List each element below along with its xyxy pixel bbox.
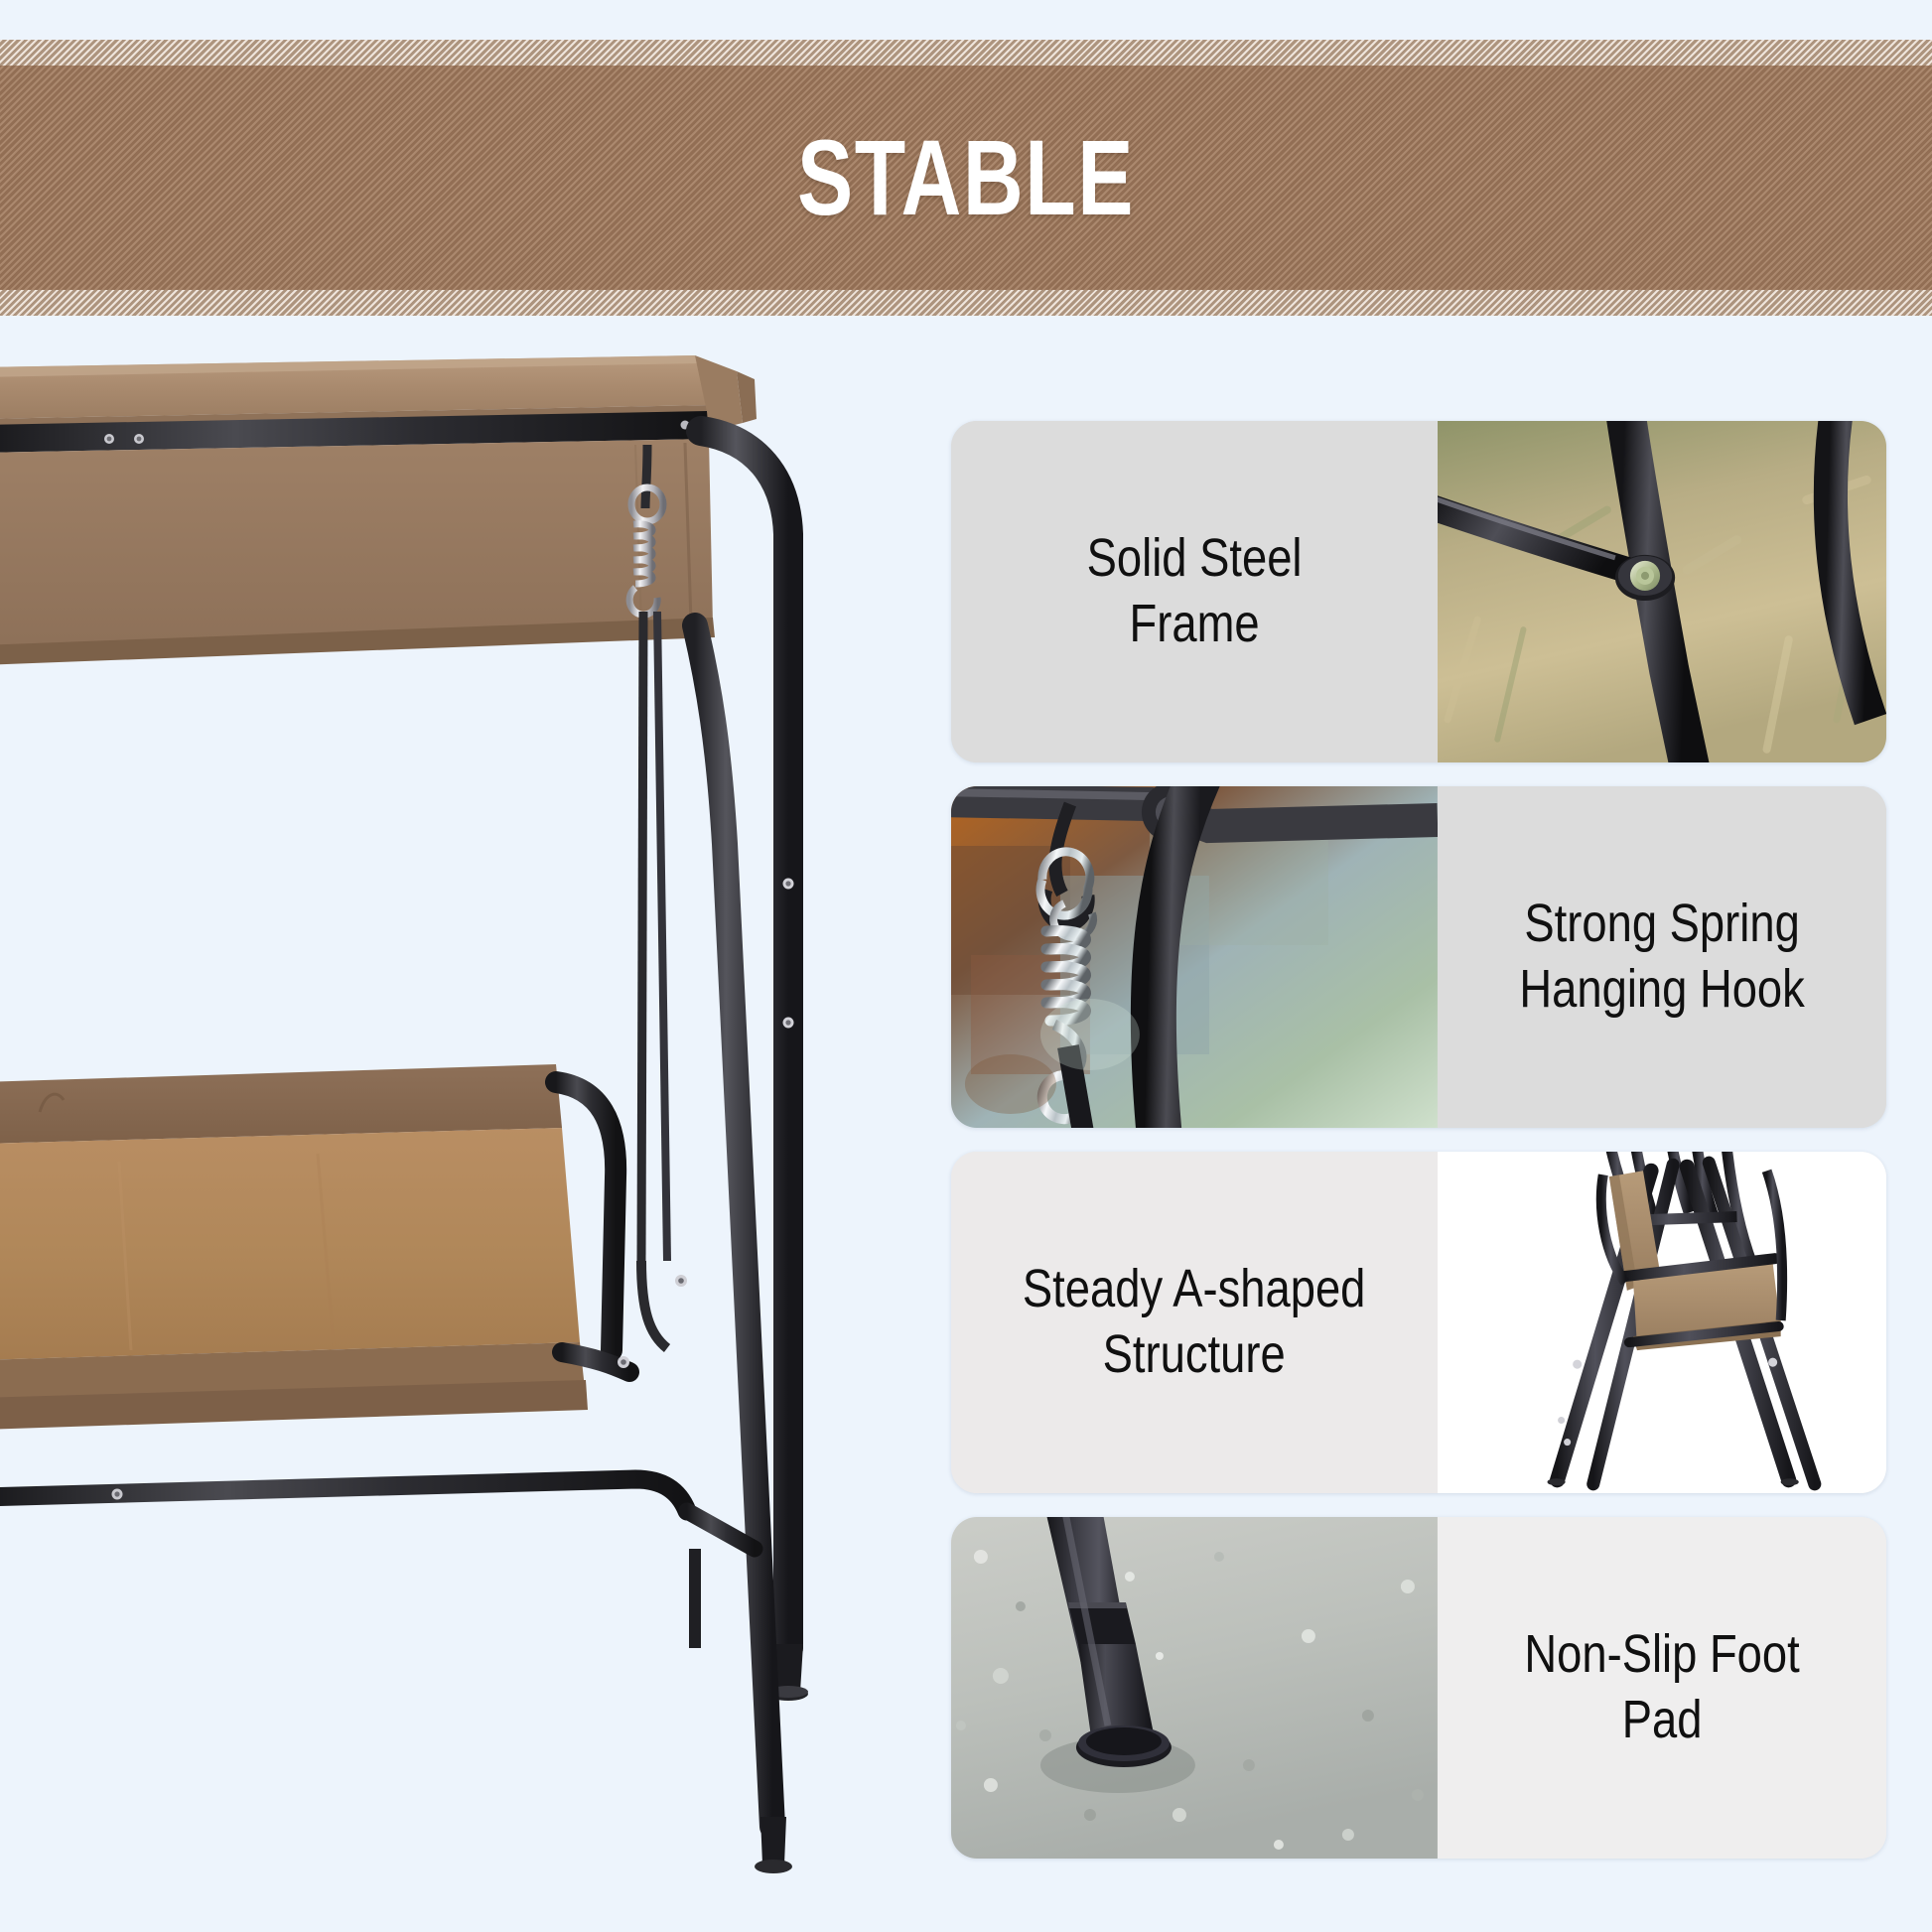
product-hero-image xyxy=(0,328,933,1932)
non-slip-foot-pad-on-gravel-photo xyxy=(951,1517,1438,1859)
page-title: STABLE xyxy=(797,124,1135,231)
feature-card-steady-a-shaped-structure[interactable]: Steady A-shaped Structure xyxy=(951,1152,1886,1493)
banner-bottom-stripe xyxy=(0,290,1932,316)
steel-frame-joint-bolt-photo xyxy=(1438,421,1886,762)
feature-label-wrap: Strong Spring Hanging Hook xyxy=(1438,786,1886,1128)
header-banner: STABLE xyxy=(0,40,1932,316)
banner-top-stripe xyxy=(0,40,1932,66)
a-shaped-frame-side-view-photo xyxy=(1438,1152,1886,1493)
feature-label-wrap: Non-Slip Foot Pad xyxy=(1438,1517,1886,1859)
feature-label: Solid Steel Frame xyxy=(1086,526,1302,657)
spring-hanging-hook-photo xyxy=(951,786,1438,1128)
feature-label-wrap: Solid Steel Frame xyxy=(951,421,1438,762)
feature-label: Steady A-shaped Structure xyxy=(1023,1257,1366,1388)
feature-label: Strong Spring Hanging Hook xyxy=(1519,892,1804,1023)
feature-label-wrap: Steady A-shaped Structure xyxy=(951,1152,1438,1493)
feature-card-list: Solid Steel Frame xyxy=(951,421,1886,1859)
feature-card-non-slip-foot-pad[interactable]: Non-Slip Foot Pad xyxy=(951,1517,1886,1859)
feature-card-solid-steel-frame[interactable]: Solid Steel Frame xyxy=(951,421,1886,762)
feature-card-strong-spring-hanging-hook[interactable]: Strong Spring Hanging Hook xyxy=(951,786,1886,1128)
feature-label: Non-Slip Foot Pad xyxy=(1524,1622,1799,1753)
